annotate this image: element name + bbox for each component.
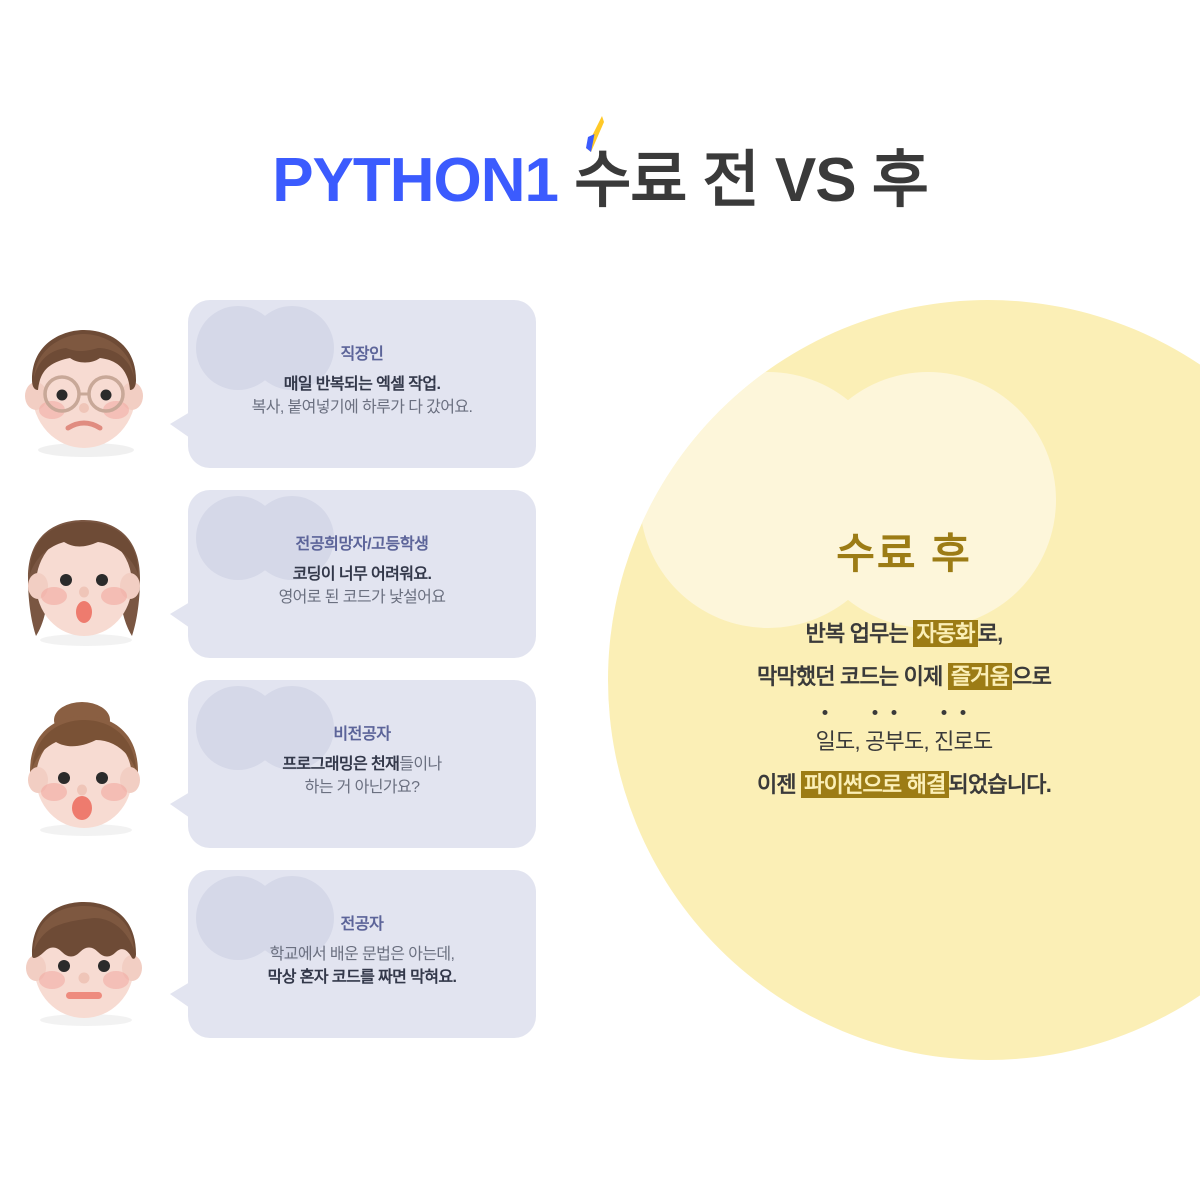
bubble-line-1: 학교에서 배운 문법은 아는데,	[188, 943, 536, 966]
bubble-tail	[170, 412, 190, 438]
avatar-bun-hair-woman-icon	[14, 698, 154, 838]
before-section: 직장인 매일 반복되는 엑셀 작업. 복사, 붙여넣기에 하루가 다 갔어요.	[0, 300, 560, 1060]
after-para1-line2: 막막했던 코드는 이제 즐거움으로	[608, 656, 1200, 699]
bubble-title: 전공자	[188, 910, 536, 934]
bubble-line-2: 막상 혼자 코드를 짜면 막혀요.	[188, 966, 536, 989]
paragraph-gap	[608, 699, 1200, 721]
bubble-line-2: 하는 거 아닌가요?	[188, 776, 536, 799]
avatar-office-worker-glasses-icon	[14, 318, 154, 458]
diagonal-slash-icon	[582, 112, 608, 158]
after-para2-line2: 이젠 파이썬으로 해결되었습니다.	[608, 764, 1200, 807]
testimonial-row: 전공희망자/고등학생 코딩이 너무 어려워요. 영어로 된 코드가 낯설어요	[0, 490, 560, 680]
highlight-joy: 즐거움	[948, 663, 1012, 690]
after-para2-line1: 일도, 공부도, 진로도	[608, 721, 1200, 764]
after-content: 수료 후 반복 업무는 자동화로, 막막했던 코드는 이제 즐거움으로 일도, …	[608, 520, 1200, 807]
after-para1-line1: 반복 업무는 자동화로,	[608, 613, 1200, 656]
title-text: PYTHON1 수료 전 VS 후	[0, 150, 1200, 212]
speech-bubble: 전공희망자/고등학생 코딩이 너무 어려워요. 영어로 된 코드가 낯설어요	[188, 490, 536, 658]
testimonial-row: 직장인 매일 반복되는 엑셀 작업. 복사, 붙여넣기에 하루가 다 갔어요.	[0, 300, 560, 490]
bubble-tail	[170, 792, 190, 818]
testimonial-row: 비전공자 프로그래밍은 천재들이나 하는 거 아닌가요?	[0, 680, 560, 870]
highlight-python-solution: 파이썬으로 해결	[801, 771, 948, 798]
bubble-title: 전공희망자/고등학생	[188, 530, 536, 554]
speech-bubble: 전공자 학교에서 배운 문법은 아는데, 막상 혼자 코드를 짜면 막혀요.	[188, 870, 536, 1038]
bubble-tail	[170, 982, 190, 1008]
title-brand: PYTHON1	[272, 146, 558, 215]
highlight-automation: 자동화	[913, 620, 977, 647]
bubble-line-1: 코딩이 너무 어려워요.	[188, 563, 536, 586]
title-rest: 수료 전 VS 후	[574, 146, 928, 215]
avatar-long-hair-girl-icon	[14, 508, 154, 648]
after-heading: 수료 후	[608, 520, 1200, 581]
avatar-bowl-hair-boy-icon	[14, 888, 154, 1028]
bubble-line-2: 복사, 붙여넣기에 하루가 다 갔어요.	[188, 396, 536, 419]
testimonial-row: 전공자 학교에서 배운 문법은 아는데, 막상 혼자 코드를 짜면 막혀요.	[0, 870, 560, 1060]
bubble-title: 직장인	[188, 340, 536, 364]
bubble-line-2: 영어로 된 코드가 낯설어요	[188, 586, 536, 609]
page-title: PYTHON1 수료 전 VS 후	[0, 150, 1200, 212]
bubble-line-1: 프로그래밍은 천재들이나	[188, 753, 536, 776]
bubble-tail	[170, 602, 190, 628]
bubble-line-1: 매일 반복되는 엑셀 작업.	[188, 373, 536, 396]
bubble-title: 비전공자	[188, 720, 536, 744]
speech-bubble: 비전공자 프로그래밍은 천재들이나 하는 거 아닌가요?	[188, 680, 536, 848]
speech-bubble: 직장인 매일 반복되는 엑셀 작업. 복사, 붙여넣기에 하루가 다 갔어요.	[188, 300, 536, 468]
